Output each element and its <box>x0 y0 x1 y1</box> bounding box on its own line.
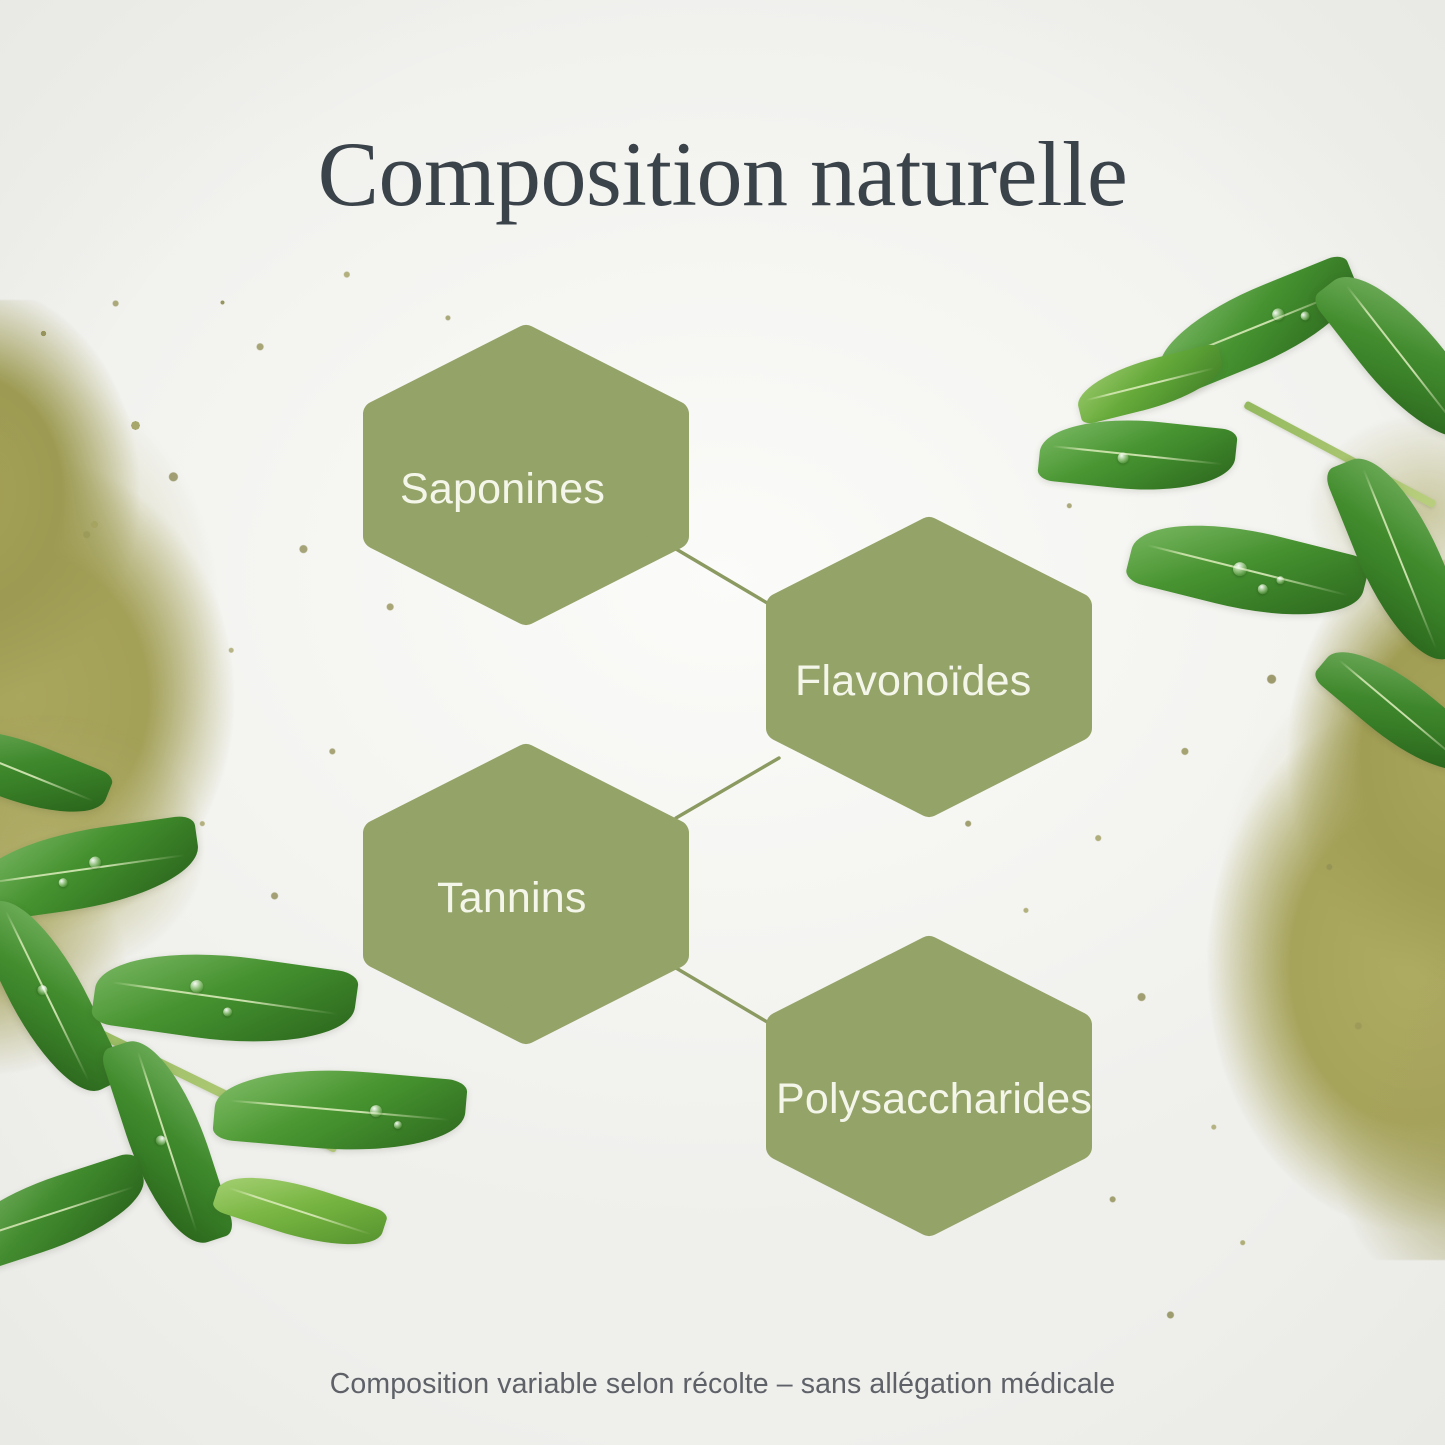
hex-label-saponines: Saponines <box>400 465 605 514</box>
connector-saponines-flavonoides <box>676 549 779 610</box>
disclaimer-caption: Composition variable selon récolte – san… <box>0 1368 1445 1401</box>
hex-label-flavonoides: Flavonoïdes <box>795 657 1031 706</box>
composition-infographic: Composition naturelle Saponines Flavonoï… <box>0 0 1445 1445</box>
connector-tannins-flavonoides <box>676 758 779 818</box>
connector-tannins-polysaccharides <box>676 968 779 1029</box>
hex-label-tannins: Tannins <box>437 874 587 923</box>
connector-group <box>676 549 779 1029</box>
hex-label-polysaccharides: Polysaccharides <box>776 1075 1092 1124</box>
hex-network-diagram <box>0 0 1445 1445</box>
